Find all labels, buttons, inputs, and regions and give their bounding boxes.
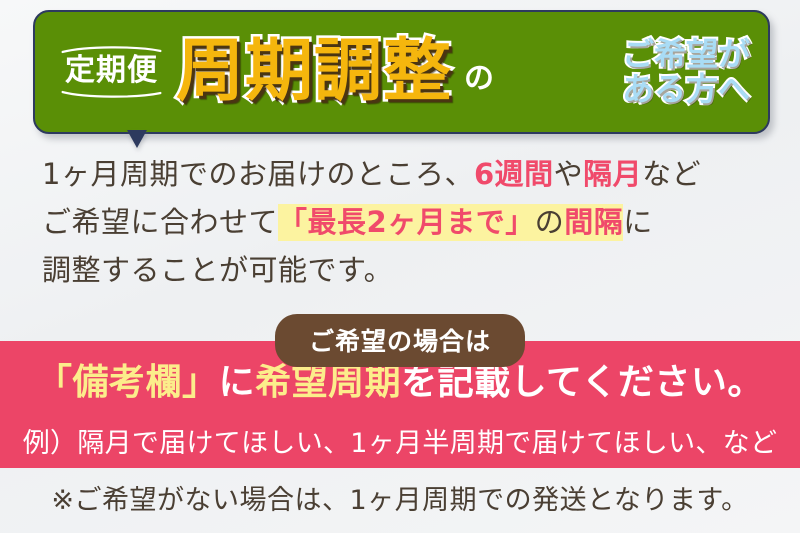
body-line-2-part-a: ご希望に合わせて	[42, 205, 278, 239]
callout-band-example: 例）隔月で届けてほしい、1ヶ月半周期で届けてほしい、など	[0, 421, 800, 460]
wave-rule-bottom-icon	[61, 89, 162, 99]
subscription-badge: 定期便	[61, 45, 162, 99]
request-case-badge: ご希望の場合は	[275, 314, 525, 367]
promo-banner: 定期便 周期調整 の ご希望が ある方へ 1ヶ月周期でのお届けのところ、6週間や…	[0, 0, 800, 533]
body-paragraph: 1ヶ月周期でのお届けのところ、6週間や隔月など ご希望に合わせて「最長2ヶ月まで…	[42, 150, 762, 294]
title-connector: の	[464, 64, 494, 94]
header-subtitle-line-1: ご希望が	[622, 37, 750, 72]
body-line-1-part-c: や	[554, 157, 584, 191]
body-line-2-accent-interval: 間隔	[564, 204, 623, 241]
header-subtitle-line-2: ある方へ	[622, 72, 750, 107]
page-title: 周期調整	[176, 38, 452, 106]
body-line-2: ご希望に合わせて「最長2ヶ月まで」の間隔に	[42, 198, 762, 246]
callout-band-headline: 「備考欄」に希望周期を記載してください。	[0, 363, 800, 403]
callout-accent-remarks: 「備考欄」	[36, 362, 219, 403]
body-line-1-part-e: など	[642, 157, 701, 191]
body-line-2-part-e: に	[623, 205, 653, 239]
body-line-2-accent-maxperiod: 「最長2ヶ月まで」	[278, 204, 535, 241]
callout-part-d: を記載してください。	[401, 362, 764, 403]
body-line-1-part-a: 1ヶ月周期でのお届けのところ、	[42, 157, 474, 191]
body-line-1-accent-6weeks: 6週間	[474, 157, 554, 191]
callout-part-b: に	[219, 362, 256, 403]
subscription-badge-label: 定期便	[65, 56, 158, 86]
header-bubble: 定期便 周期調整 の ご希望が ある方へ	[33, 10, 770, 134]
body-line-1-accent-bimonthly: 隔月	[583, 157, 642, 191]
body-line-3: 調整することが可能です。	[42, 246, 762, 294]
header-subtitle: ご希望が ある方へ	[622, 37, 750, 106]
callout-accent-cycle: 希望周期	[255, 362, 401, 403]
body-line-1: 1ヶ月周期でのお届けのところ、6週間や隔月など	[42, 150, 762, 198]
footer-note: ※ご希望がない場合は、1ヶ月周期での発送となります。	[0, 478, 800, 517]
speech-bubble-tail-icon	[128, 131, 146, 147]
body-line-2-part-c: の	[535, 204, 565, 241]
header-inner: 定期便 周期調整 の ご希望が ある方へ	[35, 12, 768, 132]
